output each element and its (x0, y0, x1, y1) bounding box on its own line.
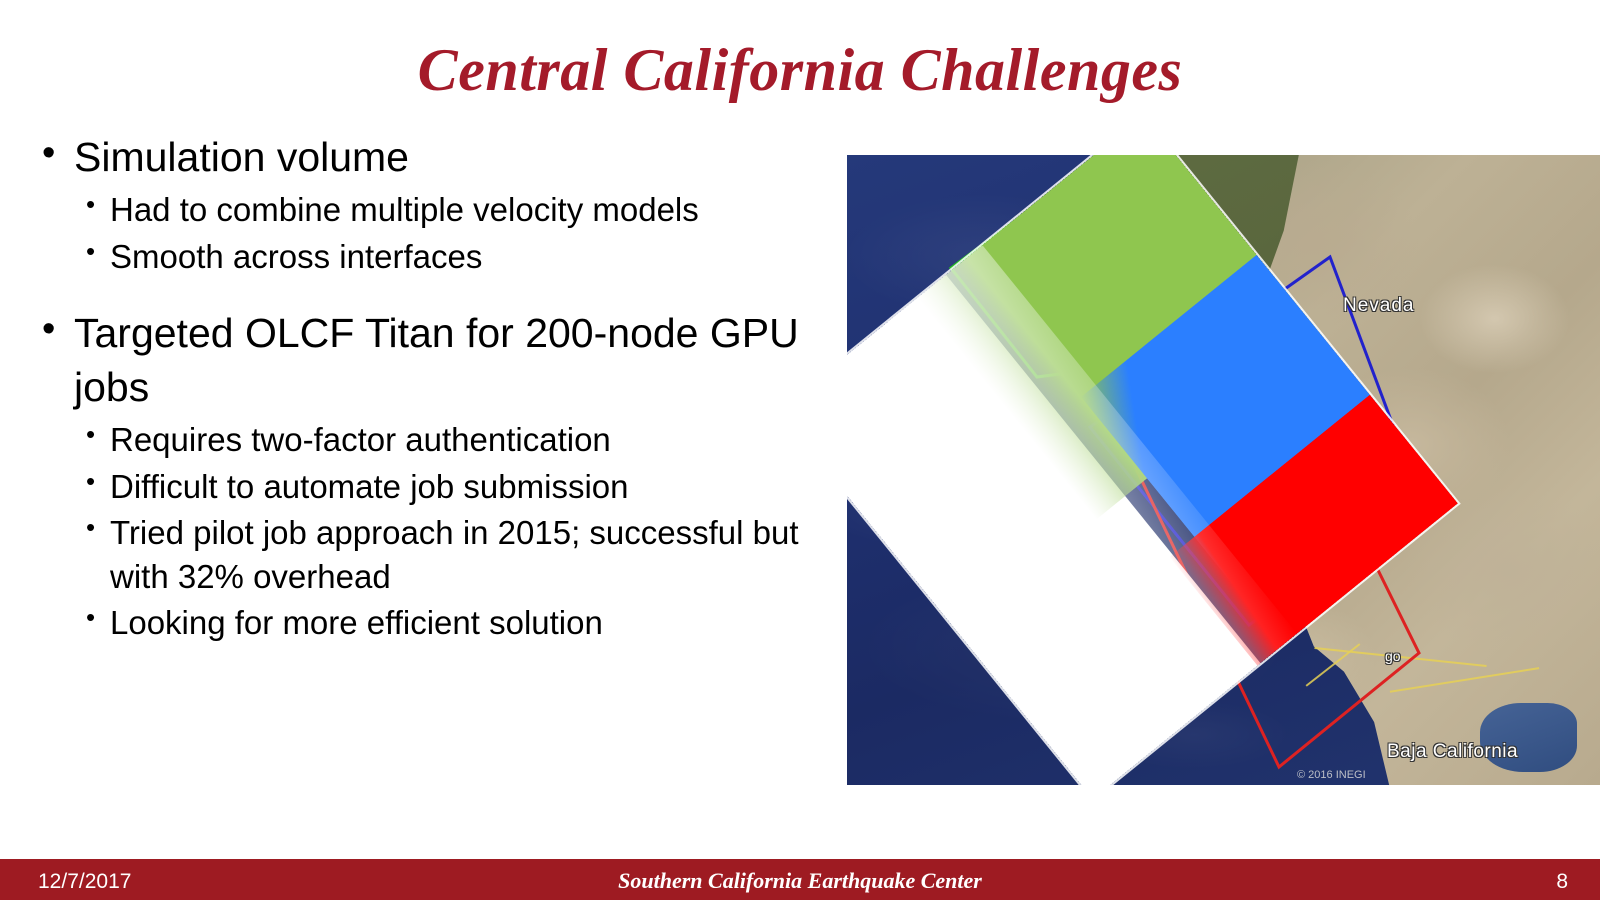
bullet-marker-icon: • (86, 601, 110, 635)
bullet-marker-icon: • (86, 465, 110, 499)
bullet-group-spacer (42, 281, 842, 307)
bullet-marker-icon: • (42, 307, 74, 352)
bullet-text: Simulation volume (74, 131, 842, 184)
footer-page-number: 8 (1556, 870, 1568, 894)
bullet-level1: • Targeted OLCF Titan for 200-node GPU j… (42, 307, 842, 414)
bullet-marker-icon: • (86, 418, 110, 452)
bullet-level2: • Requires two-factor authentication (42, 418, 842, 462)
simulation-domain-map-image: Nevada go Baja California © 2016 INEGI (847, 155, 1600, 785)
slide-canvas: Central California Challenges • Simulati… (0, 0, 1600, 900)
bullet-level2: • Tried pilot job approach in 2015; succ… (42, 511, 842, 598)
bullet-level2: • Difficult to automate job submission (42, 465, 842, 509)
bullet-marker-icon: • (86, 188, 110, 222)
bullet-level2: • Had to combine multiple velocity model… (42, 188, 842, 232)
bullet-level2: • Looking for more efficient solution (42, 601, 842, 645)
page-title: Central California Challenges (0, 36, 1600, 105)
footer-organization-name: Southern California Earthquake Center (0, 868, 1600, 894)
bullet-text: Tried pilot job approach in 2015; succes… (110, 511, 842, 598)
bullet-level2: • Smooth across interfaces (42, 235, 842, 279)
map-label-baja-california: Baja California (1387, 741, 1518, 763)
bullet-text: Difficult to automate job submission (110, 465, 842, 509)
bullet-marker-icon: • (42, 131, 74, 176)
bullet-text: Smooth across interfaces (110, 235, 842, 279)
map-label-nevada: Nevada (1343, 295, 1415, 317)
map-label-city: go (1385, 648, 1401, 664)
bullet-text: Requires two-factor authentication (110, 418, 842, 462)
bullet-text: Looking for more efficient solution (110, 601, 842, 645)
bullet-text: Had to combine multiple velocity models (110, 188, 842, 232)
bullet-marker-icon: • (86, 511, 110, 545)
footer-bar: 12/7/2017 Southern California Earthquake… (0, 859, 1600, 900)
bullet-level1: • Simulation volume (42, 131, 842, 184)
bullet-marker-icon: • (86, 235, 110, 269)
bullet-text: Targeted OLCF Titan for 200-node GPU job… (74, 307, 842, 414)
map-copyright-text: © 2016 INEGI (1297, 769, 1366, 781)
content-body: • Simulation volume • Had to combine mul… (42, 131, 842, 648)
